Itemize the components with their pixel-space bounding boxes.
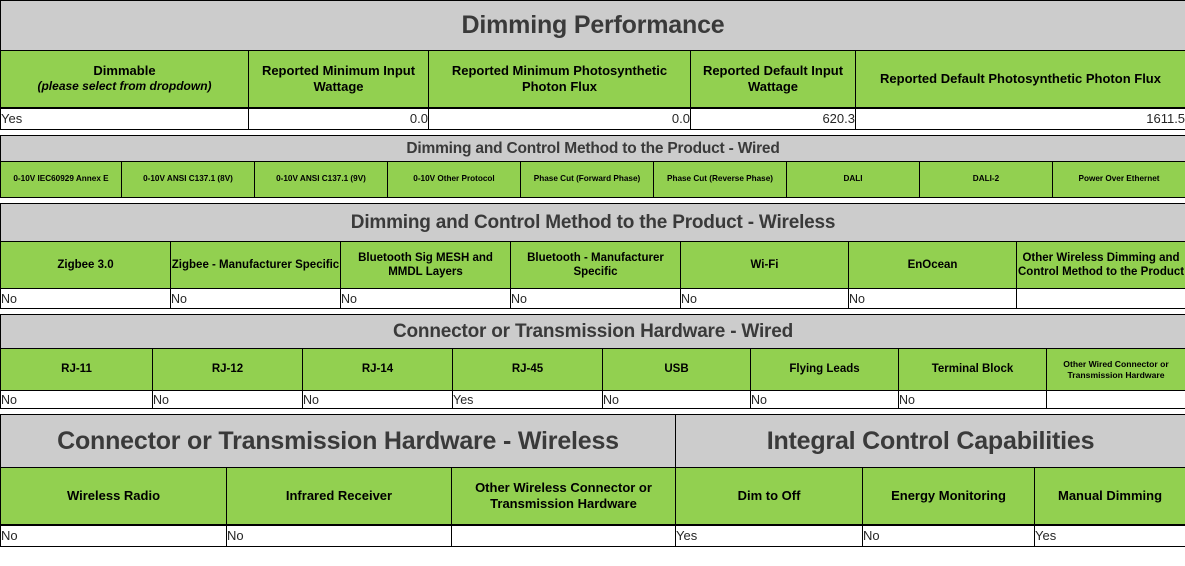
section-title-row: Connector or Transmission Hardware - Wir… bbox=[1, 415, 1185, 468]
band-title-text: Connector or Transmission Hardware - Wir… bbox=[1, 427, 675, 456]
header-text: Other Wired Connector or Transmission Ha… bbox=[1063, 359, 1168, 380]
cell-flying-leads-value[interactable]: No bbox=[751, 391, 899, 409]
section-connector-wired: Connector or Transmission Hardware - Wir… bbox=[0, 314, 1185, 409]
header-reported-min-input-wattage: Reported Minimum Input Wattage bbox=[249, 51, 429, 108]
spreadsheet-canvas: Dimming Performance Dimmable (please sel… bbox=[0, 0, 1185, 566]
header-dimmable-label: Dimmable bbox=[93, 63, 155, 78]
cell-text: No bbox=[681, 292, 697, 306]
value-row: No No No Yes No No No bbox=[1, 391, 1185, 409]
header-0-10v-iec60929-annex-e: 0-10V IEC60929 Annex E bbox=[1, 162, 122, 198]
header-wireless-radio: Wireless Radio bbox=[1, 468, 227, 525]
header-phase-cut-reverse: Phase Cut (Reverse Phase) bbox=[654, 162, 787, 198]
cell-text: No bbox=[751, 393, 767, 407]
header-other-wireless-connector: Other Wireless Connector or Transmission… bbox=[452, 468, 676, 525]
header-reported-default-ppf: Reported Default Photosynthetic Photon F… bbox=[856, 51, 1185, 108]
header-text: 0-10V ANSI C137.1 (8V) bbox=[143, 174, 233, 183]
header-zigbee-manufacturer-specific: Zigbee - Manufacturer Specific bbox=[171, 242, 341, 289]
cell-text: No bbox=[1, 292, 17, 306]
cell-text: Yes bbox=[676, 528, 697, 543]
cell-rj-45-value[interactable]: Yes bbox=[453, 391, 603, 409]
section-dimming-performance: Dimming Performance Dimmable (please sel… bbox=[0, 0, 1185, 130]
cell-default-input-wattage-value[interactable]: 620.3 bbox=[691, 108, 856, 130]
header-other-wired-connector: Other Wired Connector or Transmission Ha… bbox=[1047, 349, 1185, 391]
header-rj-45: RJ-45 bbox=[453, 349, 603, 391]
header-flying-leads: Flying Leads bbox=[751, 349, 899, 391]
cell-terminal-block-value[interactable]: No bbox=[899, 391, 1047, 409]
band-title-text: Dimming and Control Method to the Produc… bbox=[1, 212, 1185, 234]
cell-text: No bbox=[511, 292, 527, 306]
cell-usb-value[interactable]: No bbox=[603, 391, 751, 409]
section-connector-wireless-and-integral-control: Connector or Transmission Hardware - Wir… bbox=[0, 414, 1185, 547]
header-text: DALI bbox=[843, 174, 862, 183]
band-title-text: Connector or Transmission Hardware - Wir… bbox=[1, 321, 1185, 343]
cell-text: No bbox=[341, 292, 357, 306]
cell-manual-dimming-value[interactable]: Yes bbox=[1035, 525, 1185, 547]
header-text: RJ-14 bbox=[362, 363, 393, 375]
header-zigbee-3-0: Zigbee 3.0 bbox=[1, 242, 171, 289]
cell-rj-14-value[interactable]: No bbox=[303, 391, 453, 409]
header-reported-default-input-wattage: Reported Default Input Wattage bbox=[691, 51, 856, 108]
cell-energy-monitoring-value[interactable]: No bbox=[863, 525, 1035, 547]
header-dim-to-off: Dim to Off bbox=[676, 468, 863, 525]
cell-min-input-wattage-value[interactable]: 0.0 bbox=[249, 108, 429, 130]
section-dimming-wireless: Dimming and Control Method to the Produc… bbox=[0, 203, 1185, 309]
column-header-row: RJ-11 RJ-12 RJ-14 RJ-45 USB Flying Leads… bbox=[1, 349, 1185, 391]
header-text: Zigbee - Manufacturer Specific bbox=[172, 259, 339, 271]
section-title-row: Connector or Transmission Hardware - Wir… bbox=[1, 315, 1185, 349]
header-text: 0-10V IEC60929 Annex E bbox=[13, 174, 108, 183]
header-enocean: EnOcean bbox=[849, 242, 1017, 289]
cell-default-ppf-value[interactable]: 1611.5 bbox=[856, 108, 1185, 130]
cell-text: No bbox=[863, 528, 880, 543]
band-connector-wired: Connector or Transmission Hardware - Wir… bbox=[1, 315, 1185, 349]
header-text: USB bbox=[664, 363, 688, 375]
cell-text: 0.0 bbox=[672, 111, 690, 126]
band-title-text: Dimming and Control Method to the Produc… bbox=[1, 140, 1185, 158]
header-0-10v-other-protocol: 0-10V Other Protocol bbox=[388, 162, 521, 198]
header-energy-monitoring: Energy Monitoring bbox=[863, 468, 1035, 525]
band-title-text: Integral Control Capabilities bbox=[676, 427, 1185, 456]
header-text: Reported Minimum Photosynthetic Photon F… bbox=[452, 63, 667, 94]
column-header-row: Wireless Radio Infrared Receiver Other W… bbox=[1, 468, 1185, 525]
header-bluetooth-manufacturer-specific: Bluetooth - Manufacturer Specific bbox=[511, 242, 681, 289]
header-power-over-ethernet: Power Over Ethernet bbox=[1053, 162, 1185, 198]
header-text: Wireless Radio bbox=[67, 488, 160, 503]
header-text: Reported Default Photosynthetic Photon F… bbox=[880, 71, 1161, 86]
cell-text: No bbox=[899, 393, 915, 407]
cell-zigbee-mfr-value[interactable]: No bbox=[171, 289, 341, 309]
cell-text: 620.3 bbox=[822, 111, 855, 126]
cell-infrared-receiver-value[interactable]: No bbox=[227, 525, 452, 547]
cell-dim-to-off-value[interactable]: Yes bbox=[676, 525, 863, 547]
section-dimming-wired: Dimming and Control Method to the Produc… bbox=[0, 135, 1185, 198]
band-connector-wireless: Connector or Transmission Hardware - Wir… bbox=[1, 415, 676, 468]
cell-wireless-radio-value[interactable]: No bbox=[1, 525, 227, 547]
header-wi-fi: Wi-Fi bbox=[681, 242, 849, 289]
header-manual-dimming: Manual Dimming bbox=[1035, 468, 1185, 525]
header-text: DALI-2 bbox=[973, 174, 999, 183]
band-dimming-performance: Dimming Performance bbox=[1, 1, 1185, 51]
cell-text: 1611.5 bbox=[1146, 111, 1185, 126]
header-infrared-receiver: Infrared Receiver bbox=[227, 468, 452, 525]
header-text: Wi-Fi bbox=[751, 259, 779, 271]
value-row: No No Yes No Yes bbox=[1, 525, 1185, 547]
cell-text: No bbox=[227, 528, 244, 543]
header-rj-11: RJ-11 bbox=[1, 349, 153, 391]
band-dimming-wired: Dimming and Control Method to the Produc… bbox=[1, 136, 1185, 162]
header-0-10v-ansi-c137-1-9v: 0-10V ANSI C137.1 (9V) bbox=[255, 162, 388, 198]
header-reported-min-ppf: Reported Minimum Photosynthetic Photon F… bbox=[429, 51, 691, 108]
header-bluetooth-sig-mesh-mmdl: Bluetooth Sig MESH and MMDL Layers bbox=[341, 242, 511, 289]
header-dali-2: DALI-2 bbox=[920, 162, 1053, 198]
header-text: Reported Minimum Input Wattage bbox=[262, 63, 415, 94]
column-header-row: Dimmable (please select from dropdown) R… bbox=[1, 51, 1185, 108]
header-text: Dim to Off bbox=[738, 488, 801, 503]
band-dimming-wireless: Dimming and Control Method to the Produc… bbox=[1, 204, 1185, 242]
header-dali: DALI bbox=[787, 162, 920, 198]
header-dimmable-hint: (please select from dropdown) bbox=[1, 79, 248, 94]
header-0-10v-ansi-c137-1-8v: 0-10V ANSI C137.1 (8V) bbox=[122, 162, 255, 198]
header-text: Phase Cut (Forward Phase) bbox=[534, 174, 640, 183]
value-row: No No No No No No bbox=[1, 289, 1185, 309]
header-text: Power Over Ethernet bbox=[1079, 174, 1160, 183]
header-rj-12: RJ-12 bbox=[153, 349, 303, 391]
cell-rj-12-value[interactable]: No bbox=[153, 391, 303, 409]
header-text: Terminal Block bbox=[932, 363, 1014, 375]
column-header-row: 0-10V IEC60929 Annex E 0-10V ANSI C137.1… bbox=[1, 162, 1185, 198]
band-title-text: Dimming Performance bbox=[1, 11, 1185, 40]
cell-text: 0.0 bbox=[410, 111, 428, 126]
section-title-row: Dimming Performance bbox=[1, 1, 1185, 51]
cell-text: No bbox=[171, 292, 187, 306]
header-text: EnOcean bbox=[908, 259, 958, 271]
header-text: Energy Monitoring bbox=[891, 488, 1006, 503]
header-text: Other Wireless Connector or Transmission… bbox=[475, 480, 652, 511]
cell-other-wired-connector-value[interactable] bbox=[1047, 391, 1185, 409]
cell-other-wireless-dimming-value[interactable] bbox=[1017, 289, 1185, 309]
cell-other-wireless-connector-value[interactable] bbox=[452, 525, 676, 547]
cell-bluetooth-mfr-value[interactable]: No bbox=[511, 289, 681, 309]
cell-text: No bbox=[303, 393, 319, 407]
cell-text: No bbox=[849, 292, 865, 306]
cell-bluetooth-mesh-value[interactable]: No bbox=[341, 289, 511, 309]
cell-min-ppf-value[interactable]: 0.0 bbox=[429, 108, 691, 130]
header-text: 0-10V Other Protocol bbox=[413, 174, 494, 183]
header-usb: USB bbox=[603, 349, 751, 391]
header-text: RJ-45 bbox=[512, 363, 543, 375]
header-text: Infrared Receiver bbox=[286, 488, 392, 503]
cell-rj-11-value[interactable]: No bbox=[1, 391, 153, 409]
band-integral-control: Integral Control Capabilities bbox=[676, 415, 1185, 468]
header-text: Phase Cut (Reverse Phase) bbox=[667, 174, 773, 183]
section-title-row: Dimming and Control Method to the Produc… bbox=[1, 204, 1185, 242]
value-row: Yes 0.0 0.0 620.3 1611.5 bbox=[1, 108, 1185, 130]
header-rj-14: RJ-14 bbox=[303, 349, 453, 391]
header-other-wireless-dimming-method: Other Wireless Dimming and Control Metho… bbox=[1017, 242, 1185, 289]
header-text: RJ-11 bbox=[61, 363, 92, 375]
header-text: Bluetooth Sig MESH and MMDL Layers bbox=[358, 252, 493, 278]
column-header-row: Zigbee 3.0 Zigbee - Manufacturer Specifi… bbox=[1, 242, 1185, 289]
cell-text: Yes bbox=[453, 393, 473, 407]
cell-zigbee-3-0-value[interactable]: No bbox=[1, 289, 171, 309]
cell-dimmable-value[interactable]: Yes bbox=[1, 108, 249, 130]
cell-enocean-value[interactable]: No bbox=[849, 289, 1017, 309]
cell-text: Yes bbox=[1, 111, 22, 126]
section-title-row: Dimming and Control Method to the Produc… bbox=[1, 136, 1185, 162]
header-text: RJ-12 bbox=[212, 363, 243, 375]
header-text: Bluetooth - Manufacturer Specific bbox=[527, 252, 664, 278]
cell-text: No bbox=[1, 393, 17, 407]
header-text: Other Wireless Dimming and Control Metho… bbox=[1018, 252, 1184, 278]
header-text: 0-10V ANSI C137.1 (9V) bbox=[276, 174, 366, 183]
cell-text: No bbox=[603, 393, 619, 407]
header-phase-cut-forward: Phase Cut (Forward Phase) bbox=[521, 162, 654, 198]
header-text: Reported Default Input Wattage bbox=[703, 63, 843, 94]
cell-text: Yes bbox=[1035, 528, 1056, 543]
header-text: Zigbee 3.0 bbox=[57, 259, 113, 271]
cell-text: No bbox=[153, 393, 169, 407]
header-text: Manual Dimming bbox=[1058, 488, 1162, 503]
cell-wifi-value[interactable]: No bbox=[681, 289, 849, 309]
header-text: Flying Leads bbox=[789, 363, 859, 375]
header-terminal-block: Terminal Block bbox=[899, 349, 1047, 391]
header-dimmable: Dimmable (please select from dropdown) bbox=[1, 51, 249, 108]
cell-text: No bbox=[1, 528, 18, 543]
